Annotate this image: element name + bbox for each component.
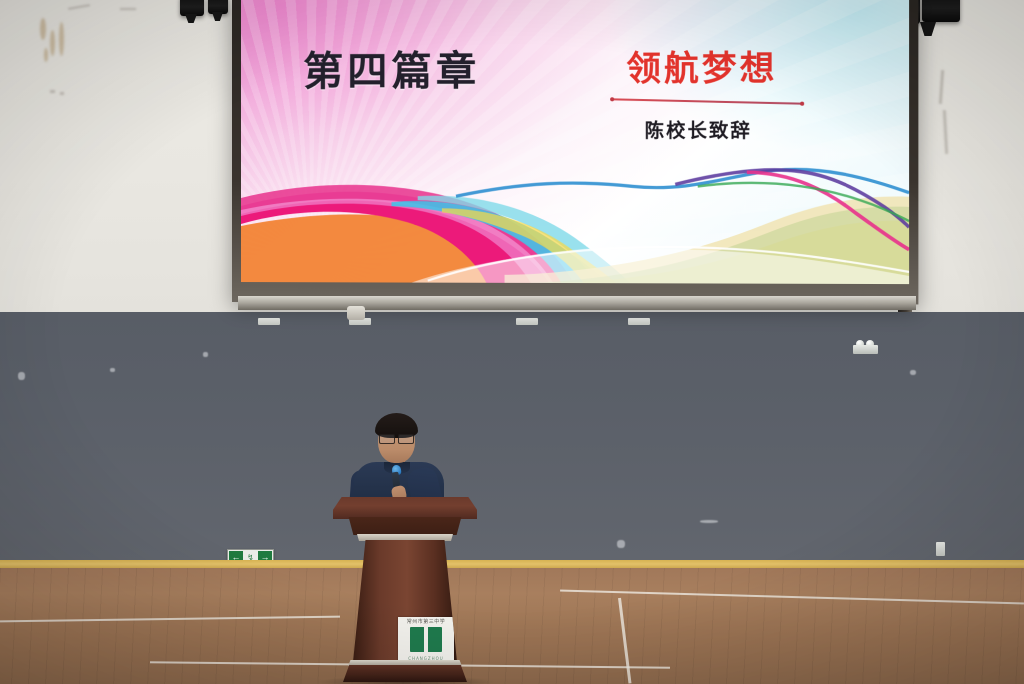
slide-chapter-title: 第四篇章 bbox=[303, 38, 480, 97]
wall-stain bbox=[59, 22, 64, 56]
glasses-icon bbox=[379, 434, 414, 442]
wall-speck bbox=[203, 352, 208, 357]
screen-center-bracket bbox=[347, 306, 365, 320]
podium-top-surface bbox=[333, 497, 477, 519]
wall-speck bbox=[910, 370, 916, 375]
projection-screen: 第四篇章 领航梦想 陈校长致辞 bbox=[232, 0, 918, 304]
podium-body: 常州市第三中学 CHANGZHOU bbox=[353, 540, 457, 662]
wall-outlet bbox=[936, 542, 945, 556]
school-emblem-icon bbox=[410, 627, 442, 652]
podium-school-name: 常州市第三中学 bbox=[398, 618, 454, 625]
podium-apron bbox=[345, 517, 465, 535]
projection-screen-surface: 第四篇章 领航梦想 陈校长致辞 bbox=[241, 0, 909, 284]
wall-stain bbox=[40, 18, 46, 40]
screen-mount-foot bbox=[516, 318, 538, 325]
slide-wave-graphic bbox=[241, 162, 909, 284]
screen-bottom-rail bbox=[238, 296, 916, 310]
wall-stain bbox=[50, 30, 55, 56]
wall-stain bbox=[44, 48, 48, 62]
screen-mount-foot bbox=[258, 318, 280, 325]
wall-speck bbox=[18, 372, 25, 380]
wall-speck bbox=[700, 520, 718, 523]
podium: 常州市第三中学 CHANGZHOU bbox=[333, 497, 477, 684]
podium-school-plaque: 常州市第三中学 CHANGZHOU bbox=[398, 617, 454, 663]
slide-subtitle: 陈校长致辞 bbox=[645, 116, 752, 143]
wall-scuff bbox=[120, 8, 136, 10]
ceiling-speaker-icon bbox=[922, 0, 960, 22]
ceiling-speaker-icon bbox=[180, 0, 204, 16]
podium-upper-trim bbox=[355, 534, 455, 541]
slide-headline: 领航梦想 bbox=[626, 41, 777, 91]
wall-speck bbox=[110, 368, 115, 372]
auditorium-scene: ← ↯ → bbox=[0, 0, 1024, 684]
podium-base bbox=[343, 665, 467, 682]
screen-mount-foot bbox=[628, 318, 650, 325]
wall-scuff bbox=[50, 90, 55, 93]
emergency-light bbox=[853, 340, 878, 354]
wall-scuff bbox=[60, 92, 64, 95]
ceiling-speaker-icon bbox=[208, 0, 228, 14]
emergency-light-housing bbox=[853, 345, 878, 354]
wall-speck bbox=[617, 540, 625, 548]
